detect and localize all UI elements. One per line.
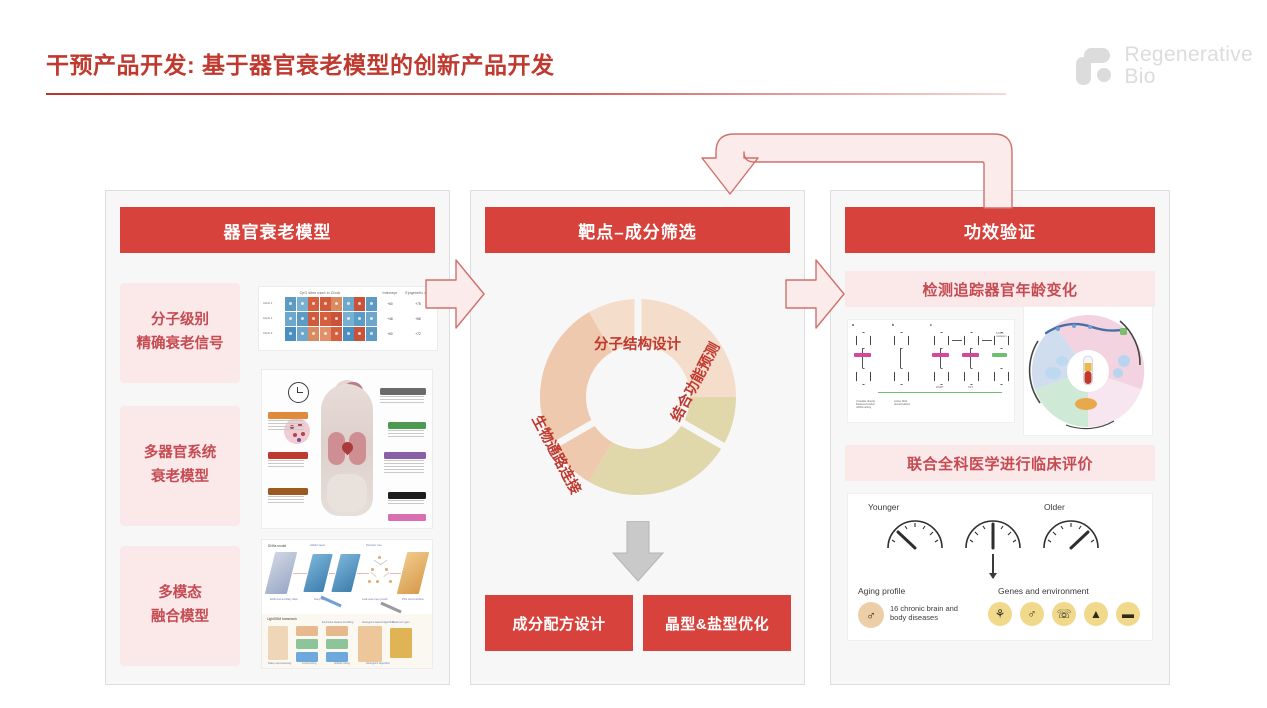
aging-profile-text: 16 chronic brain and body diseases <box>890 604 974 623</box>
infant-icon: ♂ <box>1020 602 1044 626</box>
pill-multi-organ-system: 多器官系统 衰老模型 <box>120 406 240 526</box>
graduation-cap-icon: ▲ <box>1084 602 1108 626</box>
figure-omics-wheel <box>1023 306 1153 436</box>
dna-icon: ⚘ <box>988 602 1012 626</box>
aging-gauge-illustration: Younger Older <box>848 494 1152 640</box>
pill-2-line-2: 衰老模型 <box>151 466 209 490</box>
down-arrow-icon <box>612 521 664 583</box>
heatmap-row-label: Clock 1 <box>263 302 285 306</box>
smoking-icon: ▬ <box>1116 602 1140 626</box>
heatmap-age: +72 <box>403 332 433 336</box>
panel-target-ingredient-screening: 靶点–成分筛选 分子结构设计 生物通路连接 结合功能预测 <box>470 190 805 685</box>
gauge-down-arrow-icon <box>992 554 994 578</box>
screening-donut-chart: 分子结构设计 生物通路连接 结合功能预测 <box>532 291 744 503</box>
heatmap-cells <box>285 312 377 326</box>
pill-3-line-2: 融合模型 <box>151 606 209 630</box>
heatmap-intercept: +48 <box>377 317 403 321</box>
panel-3-title: 功效验证 <box>845 207 1155 253</box>
pill-1-line-2: 精确衰老信号 <box>137 333 224 357</box>
panel-1-title: 器官衰老模型 <box>120 207 435 253</box>
process-flow-diagram: 器官衰老模型 分子级别 精确衰老信号 多器官系统 衰老模型 多模态 融合模型 C… <box>0 0 1267 708</box>
figure-epigenetic-clock-heatmap: CpG sites used in Clock Intercept Epigen… <box>258 286 438 351</box>
panel-2-title: 靶点–成分筛选 <box>485 207 790 253</box>
cta-crystal-salt-optimization[interactable]: 晶型&盐型优化 <box>643 595 791 651</box>
heatmap-intercept: +60 <box>377 332 403 336</box>
subhead-organ-age-tracking: 检测追踪器官年龄变化 <box>845 271 1155 307</box>
heatmap-cells <box>285 327 377 341</box>
heatmap-header-0: CpG sites used in Clock <box>263 291 377 295</box>
figure-aging-gauge: Younger Older <box>847 493 1153 641</box>
heatmap-headers: CpG sites used in Clock Intercept Epigen… <box>259 287 437 296</box>
panel-efficacy-validation: 功效验证 检测追踪器官年龄变化 a b c <box>830 190 1170 685</box>
subhead-clinical-evaluation: 联合全科医学进行临床评价 <box>845 445 1155 481</box>
omics-wheel-illustration <box>1024 307 1152 435</box>
donut-label-molecular-design: 分子结构设计 <box>594 333 681 354</box>
figure-multimodal-ml-pipeline: EHR and ancillary data Deep layer Leaf-w… <box>261 539 433 669</box>
heatmap-row: Clock 1 +60 +75 <box>259 296 437 311</box>
anatomy-illustration <box>262 370 432 528</box>
pill-multimodal-fusion: 多模态 融合模型 <box>120 546 240 666</box>
figure-chemical-structure: a b c <box>847 319 1015 423</box>
gauge-younger-icon <box>884 516 946 550</box>
heatmap-row-label: Clock 2 <box>263 317 285 321</box>
heatmap-row: Clock 3 +60 +72 <box>259 326 437 341</box>
stethoscope-icon: ♂ <box>858 602 884 628</box>
gauge-middle-icon <box>962 516 1024 550</box>
cta-formula-design[interactable]: 成分配方设计 <box>485 595 633 651</box>
heatmap-row: Clock 2 +48 +68 <box>259 311 437 326</box>
pill-3-line-1: 多模态 <box>158 582 202 606</box>
heatmap-cells <box>285 297 377 311</box>
pill-2-line-1: 多器官系统 <box>144 442 217 466</box>
heatmap-intercept: +60 <box>377 302 403 306</box>
panel-organ-aging-model: 器官衰老模型 分子级别 精确衰老信号 多器官系统 衰老模型 多模态 融合模型 C… <box>105 190 450 685</box>
feedback-loop-arrow-icon <box>700 128 1030 210</box>
ml-pipeline-illustration: EHR and ancillary data Deep layer Leaf-w… <box>262 540 432 668</box>
figure-multi-organ-anatomy <box>261 369 433 529</box>
chevron-screening-to-validation-icon <box>784 258 846 330</box>
aging-clock-icon <box>288 382 309 403</box>
heatmap-header-1: Intercept <box>377 291 403 295</box>
runner-icon: ☏ <box>1052 602 1076 626</box>
pill-molecular-signal: 分子级别 精确衰老信号 <box>120 283 240 383</box>
pill-1-line-1: 分子级别 <box>151 309 209 333</box>
gauge-label-older: Older <box>1044 502 1065 512</box>
aging-profile-label: Aging profile <box>858 586 905 596</box>
chevron-model-to-screening-icon <box>424 258 486 330</box>
genes-environment-label: Genes and environment <box>998 586 1089 596</box>
gauge-label-younger: Younger <box>868 502 899 512</box>
chemical-structure-illustration: a b c <box>848 320 1014 422</box>
heatmap-row-label: Clock 3 <box>263 332 285 336</box>
gauge-older-icon <box>1040 516 1102 550</box>
